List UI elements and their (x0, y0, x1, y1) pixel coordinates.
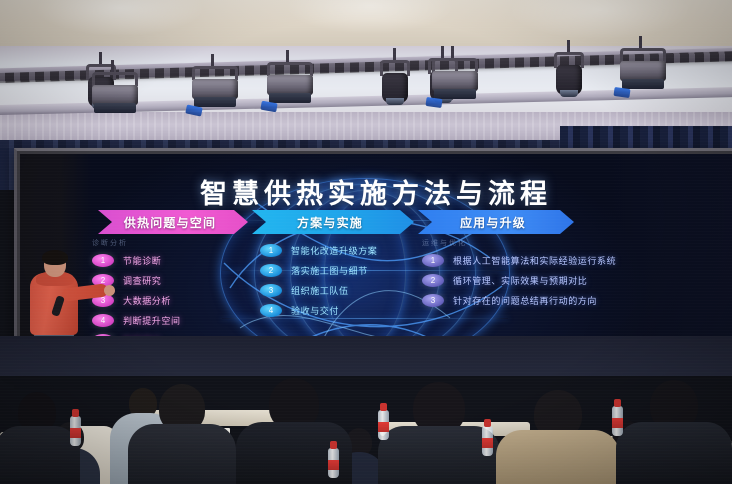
list-item: 2 循环管理、实际效果与预期对比 (422, 274, 616, 287)
item-badge: 1 (422, 254, 444, 267)
list-item: 3 组织施工队伍 (260, 284, 377, 297)
conference-photo-scene: 智慧供热实施方法与流程 供热问题与空间 方案与实施 应用与升级 诊断分析 1 节… (0, 0, 732, 484)
led-screen-bezel: 智慧供热实施方法与流程 供热问题与空间 方案与实施 应用与升级 诊断分析 1 节… (14, 148, 732, 364)
item-label: 调查研究 (123, 274, 161, 287)
item-label: 节能诊断 (123, 254, 161, 267)
item-label: 判断提升空间 (123, 314, 181, 327)
list-item: 1 根据人工智能算法和实际经验运行系统 (422, 254, 616, 267)
audience-member (496, 388, 620, 484)
item-label: 针对存在的问题总结再行动的方向 (453, 294, 597, 307)
item-label: 循环管理、实际效果与预期对比 (453, 274, 587, 287)
screen-dark-right-edge (602, 154, 732, 364)
water-bottle (70, 416, 81, 446)
list-item: 3 针对存在的问题总结再行动的方向 (422, 294, 616, 307)
phase-banner-group: 供热问题与空间 方案与实施 应用与升级 (98, 210, 574, 234)
item-badge: 3 (422, 294, 444, 307)
stage-front-wall (0, 336, 732, 376)
phase-banner-2: 方案与实施 (252, 210, 414, 234)
item-badge: 1 (260, 244, 282, 257)
slide-column-operation: 运维与优化 1 根据人工智能算法和实际经验运行系统 2 循环管理、实际效果与预期… (422, 238, 616, 314)
audience-member (128, 384, 236, 484)
water-bottle (378, 410, 389, 440)
item-label: 大数据分析 (123, 294, 171, 307)
ceiling-wall (0, 0, 732, 52)
item-badge: 4 (260, 304, 282, 317)
presenter-hair (42, 250, 68, 265)
presentation-slide: 智慧供热实施方法与流程 供热问题与空间 方案与实施 应用与升级 诊断分析 1 节… (20, 154, 732, 364)
item-label: 智能化改造升级方案 (291, 244, 377, 257)
column-header: 运维与优化 (422, 238, 616, 248)
list-item: 3 大数据分析 (92, 294, 181, 307)
list-item: 4 判断提升空间 (92, 314, 181, 327)
list-item: 4 验收与交付 (260, 304, 377, 317)
item-badge: 1 (92, 254, 114, 267)
item-badge: 2 (260, 264, 282, 277)
list-item: 1 节能诊断 (92, 254, 181, 267)
item-label: 根据人工智能算法和实际经验运行系统 (453, 254, 616, 267)
list-item: 1 智能化改造升级方案 (260, 244, 377, 257)
item-badge: 4 (92, 314, 114, 327)
item-badge: 3 (260, 284, 282, 297)
water-bottle (328, 448, 339, 478)
water-bottle (482, 426, 493, 456)
item-label: 组织施工队伍 (291, 284, 349, 297)
item-label: 验收与交付 (291, 304, 339, 317)
audience-member (616, 380, 732, 484)
audience-member (0, 392, 80, 484)
phase-banner-3: 应用与升级 (418, 210, 574, 234)
item-badge: 2 (422, 274, 444, 287)
item-label: 落实施工图与细节 (291, 264, 368, 277)
audience-area (0, 336, 732, 484)
water-bottle (612, 406, 623, 436)
phase-banner-1: 供热问题与空间 (98, 210, 248, 234)
slide-column-implementation: 1 智能化改造升级方案 2 落实施工图与细节 3 组织施工队伍 4 验收与交付 (260, 238, 377, 324)
column-header: 诊断分析 (92, 238, 181, 248)
list-item: 2 落实施工图与细节 (260, 264, 377, 277)
